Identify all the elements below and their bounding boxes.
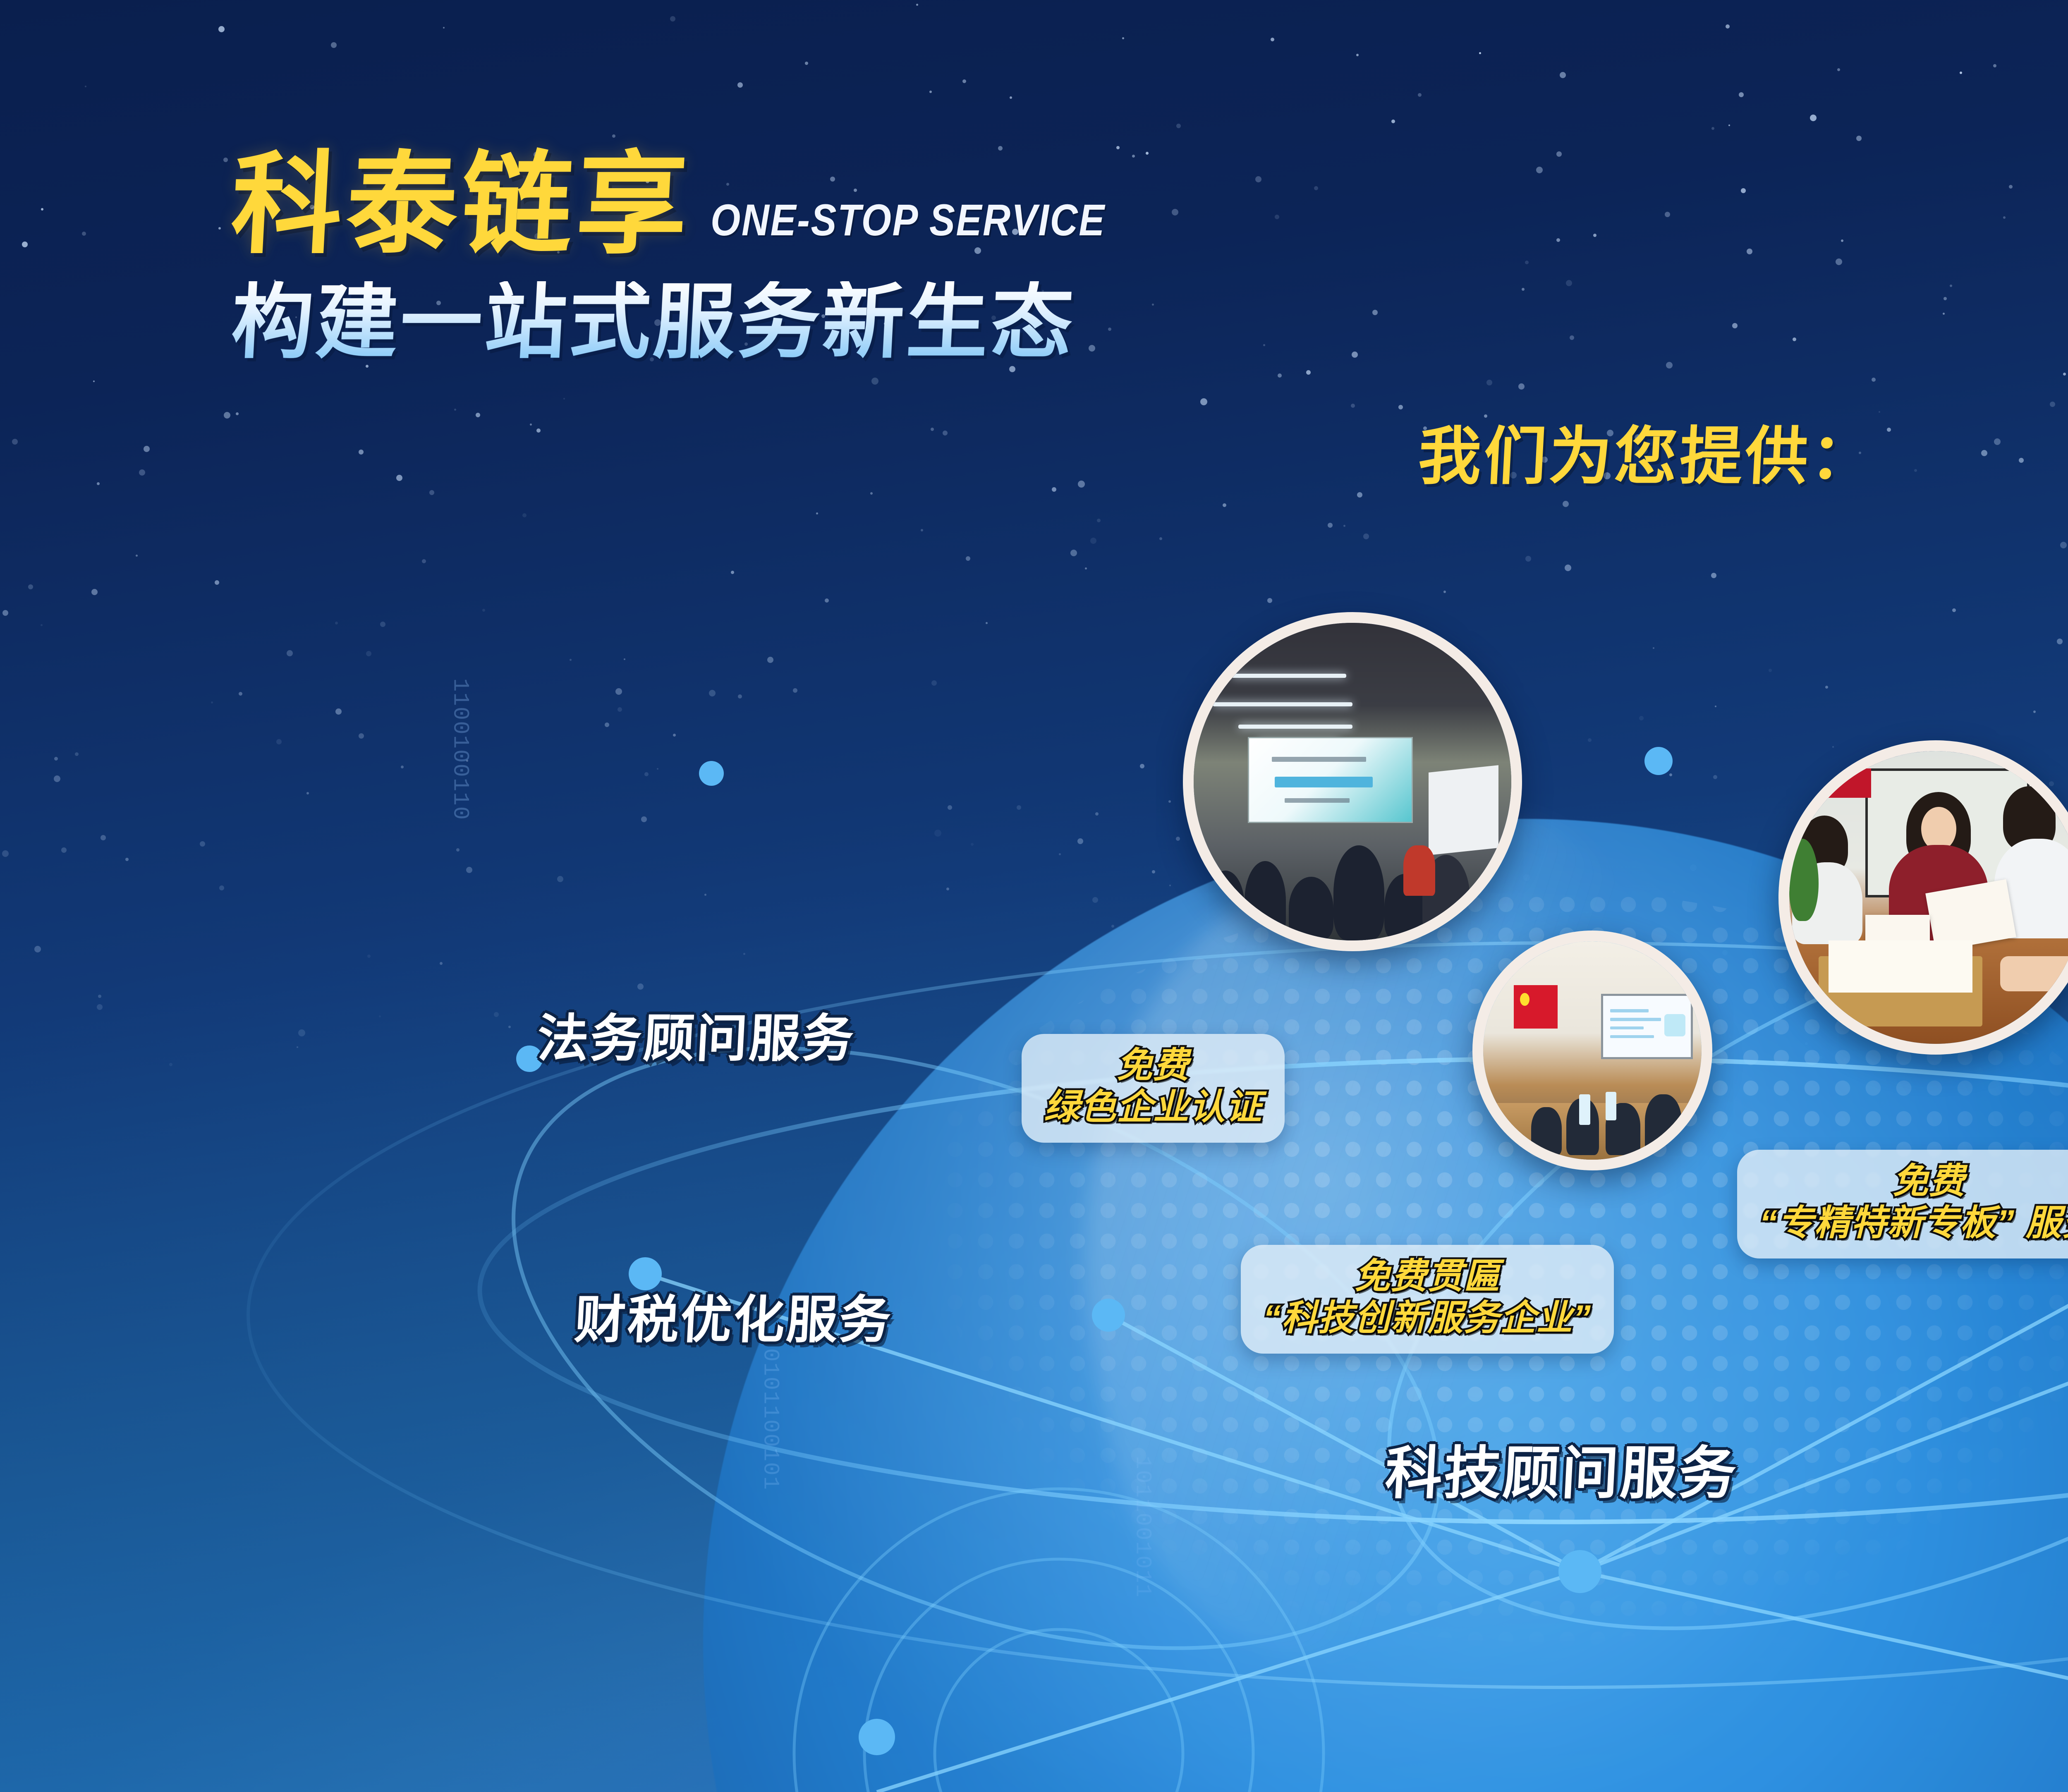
photo-document-consultation xyxy=(1778,740,2068,1055)
badge-line-1: 免费 xyxy=(1759,1160,2068,1202)
photo-meeting-room-presentation xyxy=(1472,931,1712,1170)
tagline: 构建一站式服务新生态 xyxy=(230,281,1172,363)
headline-block: 科泰链享 ONE-STOP SERVICE 构建一站式服务新生态 xyxy=(232,149,1170,363)
badge-line-2: 绿色企业认证 xyxy=(1044,1086,1262,1128)
photo-seminar-lecture-hall xyxy=(1183,612,1522,951)
brand-subtitle-en: ONE-STOP SERVICE xyxy=(711,198,1106,242)
badge-line-1: 免费贯匾 xyxy=(1263,1256,1592,1297)
brand-title: 科泰链享 xyxy=(229,149,694,260)
service-label-tech-advisory: 科技顾问服务 xyxy=(1383,1427,1740,1510)
service-label-fiscal-tax-optimization: 财税优化服务 xyxy=(573,1278,894,1352)
badge-line-2: “科技创新服务企业” xyxy=(1263,1297,1592,1339)
badge-tech-innovation-service-enterprise[interactable]: 免费贯匾 “科技创新服务企业” xyxy=(1241,1245,1614,1354)
binary-left-outer: 1100100110 xyxy=(443,678,477,821)
promotional-poster: 1100100110 0101100101 1011001011 1100101… xyxy=(0,0,2068,1792)
provide-heading: 我们为您提供： xyxy=(1416,405,1879,496)
service-label-legal-advisory: 法务顾问服务 xyxy=(536,997,857,1071)
badge-line-1: 免费 xyxy=(1044,1045,1262,1086)
badge-specialized-new-board-service[interactable]: 免费 “专精特新专板” 服务 xyxy=(1737,1150,2068,1258)
badge-green-enterprise-certification[interactable]: 免费 绿色企业认证 xyxy=(1022,1034,1285,1143)
badge-line-2: “专精特新专板” 服务 xyxy=(1759,1202,2068,1244)
